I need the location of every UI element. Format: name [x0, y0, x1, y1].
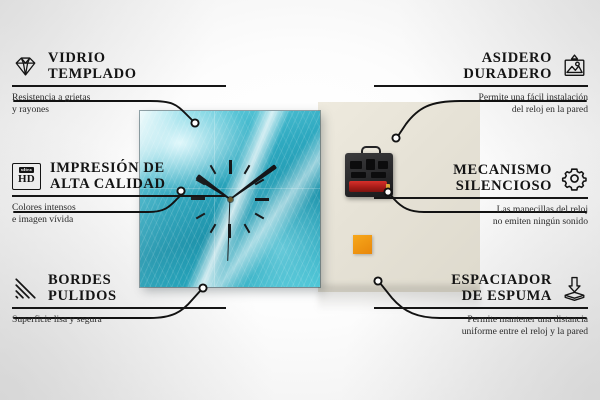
feature-title: ESPACIADOR DE ESPUMA — [451, 272, 552, 304]
feature-divider — [12, 195, 226, 197]
feature-title: MECANISMO SILENCIOSO — [453, 162, 552, 194]
press-down-pad-icon — [561, 275, 588, 302]
hanging-frame-icon — [561, 53, 588, 80]
feature-asidero-duradero: ASIDERO DURADERO Permite una fácil insta… — [374, 50, 588, 116]
feature-header: ESPACIADOR DE ESPUMA — [374, 272, 588, 304]
gear-icon — [561, 165, 588, 192]
feature-header: BORDES PULIDOS — [12, 272, 226, 304]
beveled-edge-icon — [12, 275, 39, 302]
feature-description: Resistencia a grietas y rayones — [12, 92, 226, 116]
feature-divider — [374, 197, 588, 199]
feature-title: ASIDERO DURADERO — [463, 50, 552, 82]
feature-description: Superficie lisa y segura — [12, 314, 226, 326]
mechanism-slot — [351, 172, 366, 178]
feature-description: Las manecillas del reloj no emiten ningú… — [374, 204, 588, 228]
feature-title: VIDRIO TEMPLADO — [48, 50, 137, 82]
feature-description: Permite una fácil instalación del reloj … — [374, 92, 588, 116]
feature-header: ASIDERO DURADERO — [374, 50, 588, 82]
feature-description: Permite mantener una distancia uniforme … — [374, 314, 588, 338]
ultra-hd-icon: ultra HD — [12, 163, 41, 190]
feature-header: ultra HD IMPRESIÓN DE ALTA CALIDAD — [12, 160, 226, 192]
feature-espaciador-de-espuma: ESPACIADOR DE ESPUMA Permite mantener un… — [374, 272, 588, 338]
feature-mecanismo-silencioso: MECANISMO SILENCIOSO Las manecillas del … — [374, 162, 588, 228]
feature-header: VIDRIO TEMPLADO — [12, 50, 226, 82]
infographic-canvas: VIDRIO TEMPLADO Resistencia a grietas y … — [0, 0, 600, 400]
feature-impresion-alta-calidad: ultra HD IMPRESIÓN DE ALTA CALIDAD Color… — [12, 160, 226, 226]
feature-header: MECANISMO SILENCIOSO — [374, 162, 588, 194]
feature-title: IMPRESIÓN DE ALTA CALIDAD — [50, 160, 166, 192]
feature-bordes-pulidos: BORDES PULIDOS Superficie lisa y segura — [12, 272, 226, 326]
foam-spacer — [353, 235, 372, 254]
feature-description: Colores intensos e imagen vívida — [12, 202, 226, 226]
mechanism-slot — [350, 161, 362, 169]
feature-vidrio-templado: VIDRIO TEMPLADO Resistencia a grietas y … — [12, 50, 226, 116]
feature-divider — [374, 307, 588, 309]
feature-title: BORDES PULIDOS — [48, 272, 117, 304]
diamond-icon — [12, 53, 39, 80]
feature-divider — [12, 307, 226, 309]
feature-divider — [12, 85, 226, 87]
feature-divider — [374, 85, 588, 87]
